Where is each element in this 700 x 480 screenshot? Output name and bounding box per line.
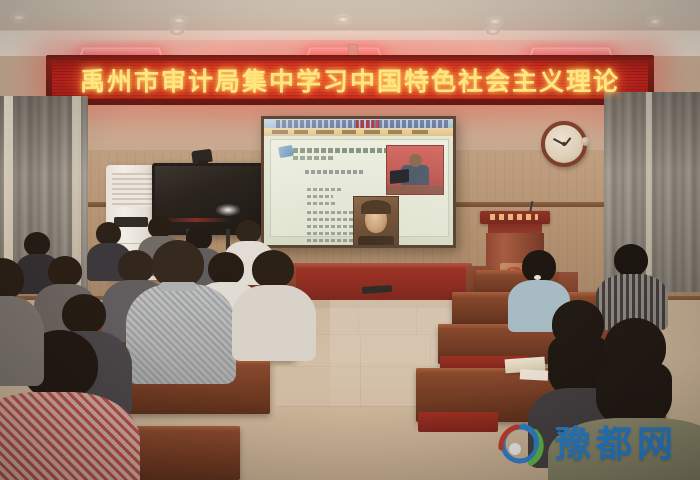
slide-text-line [307, 202, 337, 205]
slide-menu-item[interactable] [388, 130, 402, 134]
floor-tile [276, 366, 361, 407]
paper-sheet [520, 369, 548, 380]
slide-menu-item[interactable] [294, 130, 308, 134]
slide-text-line [307, 239, 355, 242]
person-head [96, 222, 121, 245]
person-collar [160, 282, 196, 291]
portrait-hair [361, 200, 391, 214]
wall-clock [541, 121, 587, 167]
person-torso [0, 392, 140, 480]
slide-menu-item[interactable] [316, 130, 334, 134]
slide-menu-item[interactable] [412, 130, 428, 134]
video-desk [387, 186, 443, 194]
lectern-neck [488, 224, 542, 233]
person-head [24, 232, 50, 256]
ceiling-spotlight [486, 28, 500, 35]
slide-menubar [264, 128, 453, 136]
instructor-video-feed [386, 145, 444, 195]
bench-seat-cushion [418, 412, 498, 432]
video-instructor-head [409, 154, 422, 167]
watermark-text: 豫都网 [555, 427, 678, 463]
person-head [252, 250, 294, 288]
ceiling-spotlight [170, 28, 184, 35]
site-watermark: 豫都网 [495, 416, 695, 474]
person-head [48, 256, 82, 287]
stage-desk-top-edge [292, 263, 472, 270]
person-head [236, 220, 261, 243]
ceiling-spotlight [488, 18, 502, 25]
person-head [118, 250, 154, 283]
air-conditioner-grill [112, 173, 152, 207]
desk-object [362, 285, 392, 294]
portrait-clothing [358, 236, 394, 245]
air-conditioner-display-panel[interactable] [114, 217, 148, 227]
slide-content-area [270, 139, 449, 237]
person-torso [232, 285, 316, 361]
ceiling-spotlight [172, 17, 186, 24]
ceiling-spotlight [648, 18, 662, 25]
tv-reflection-stripe [161, 218, 231, 222]
ceiling-spotlight [336, 16, 350, 23]
led-banner: 禹州市审计局集中学习中国特色社会主义理论 [46, 55, 654, 105]
floor-tile [358, 308, 417, 335]
person-head [62, 294, 106, 334]
person-head [208, 252, 244, 285]
slide-portrait-image [353, 196, 399, 245]
slide-text-line [307, 195, 333, 198]
lectern-header-plate [480, 211, 550, 224]
projection-screen-surface [264, 119, 453, 245]
video-camera-icon [191, 149, 213, 165]
floor-tile [360, 334, 431, 367]
slide-titlebar-text [276, 120, 449, 128]
watermark-logo-icon [495, 418, 549, 472]
conference-hall-photo: 禹州市审计局集中学习中国特色社会主义理论 [0, 0, 700, 480]
tv-glare-reflection [216, 204, 240, 216]
ceiling-spotlight [12, 14, 26, 21]
person-torso [126, 284, 236, 384]
slide-heading-line [293, 148, 397, 153]
slide-text-line [307, 188, 341, 191]
slide-menu-item[interactable] [364, 130, 380, 134]
slide-decorative-icon [278, 145, 294, 158]
slide-menu-item[interactable] [342, 130, 356, 134]
slide-subheading-line [305, 170, 365, 174]
person-head [152, 240, 204, 288]
led-banner-text: 禹州市审计局集中学习中国特色社会主义理论 [80, 62, 620, 98]
projection-screen [261, 116, 456, 248]
led-banner-screen: 禹州市审计局集中学习中国特色社会主义理论 [52, 61, 648, 99]
person-head [148, 216, 172, 238]
lectern-label-text [490, 214, 538, 220]
wall-knob [581, 137, 590, 146]
video-laptop [390, 169, 409, 184]
slide-heading-line [293, 156, 335, 160]
slide-title-highlight [356, 120, 380, 128]
slide-menu-item[interactable] [272, 130, 288, 134]
